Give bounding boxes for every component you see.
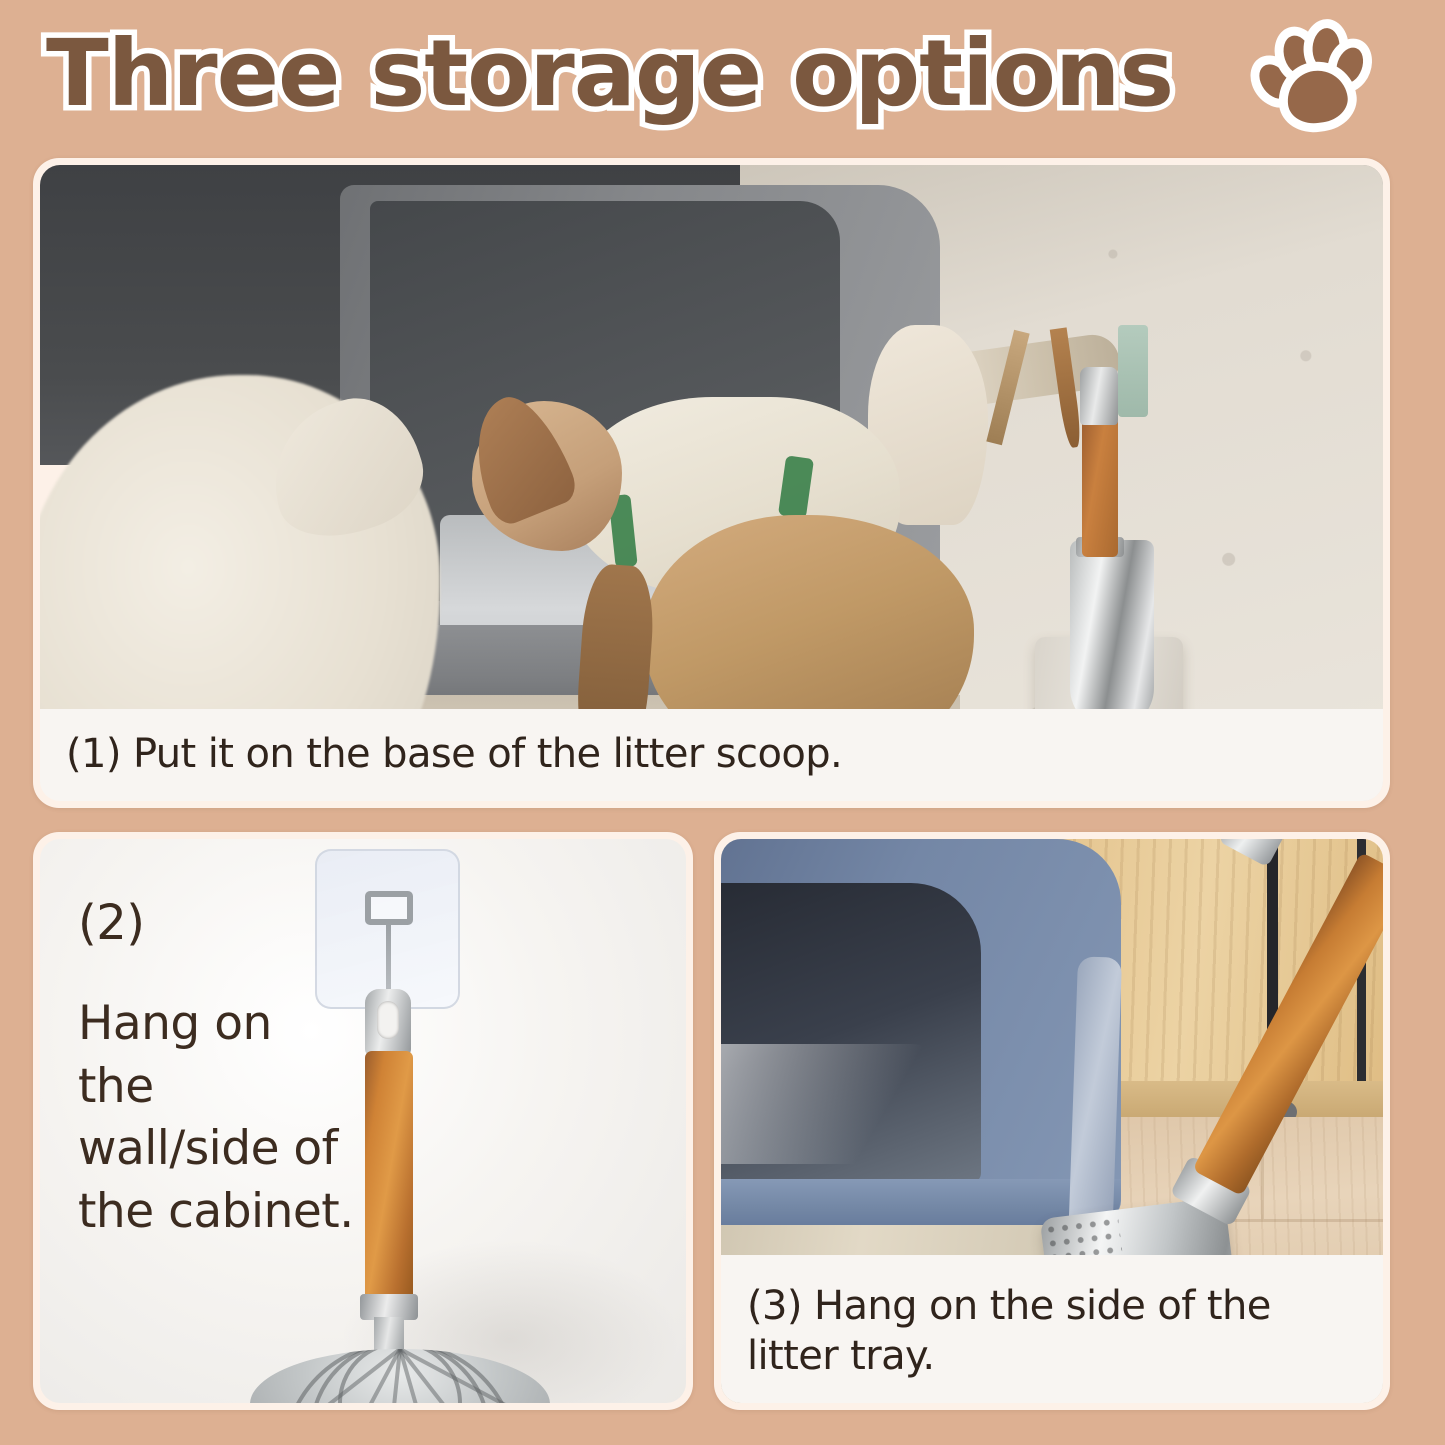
option-2-number: (2) — [78, 899, 358, 947]
option-2-panel: (2) Hang on the wall/side of the cabinet… — [33, 832, 693, 1410]
hook-bracket — [365, 891, 413, 925]
litter-box-scene — [40, 165, 1383, 801]
option-3-photo: (3) Hang on the side of the litter tray. — [721, 839, 1383, 1403]
option-2-line-3: the cabinet. — [78, 1181, 358, 1244]
scoop-hanging-eyelet — [1080, 367, 1118, 425]
hook-wire — [386, 923, 391, 995]
furniture-leg-green — [1118, 325, 1148, 417]
page-title: Three storage options — [46, 28, 1173, 120]
option-2-caption: (2) Hang on the wall/side of the cabinet… — [78, 899, 358, 1243]
scoop-wooden-handle — [365, 1051, 413, 1303]
litter-pan-sheen — [721, 1044, 951, 1164]
option-1-photo: (1) Put it on the base of the litter sco… — [40, 165, 1383, 801]
option-1-caption: (1) Put it on the base of the litter sco… — [40, 709, 1383, 801]
scoop-wooden-handle — [1082, 417, 1118, 557]
scoop-head — [1070, 540, 1154, 730]
option-2-line-1: Hang on the — [78, 993, 358, 1118]
option-3-caption: (3) Hang on the side of the litter tray. — [721, 1255, 1383, 1403]
page-header: Three storage options — [0, 0, 1445, 148]
option-2-line-2: wall/side of — [78, 1118, 358, 1181]
option-3-panel: (3) Hang on the side of the litter tray. — [714, 832, 1390, 1410]
option-2-photo: (2) Hang on the wall/side of the cabinet… — [40, 839, 686, 1403]
option-1-panel: (1) Put it on the base of the litter sco… — [33, 158, 1390, 808]
eyelet-hole — [377, 1001, 399, 1039]
paw-print-icon — [1246, 13, 1368, 135]
